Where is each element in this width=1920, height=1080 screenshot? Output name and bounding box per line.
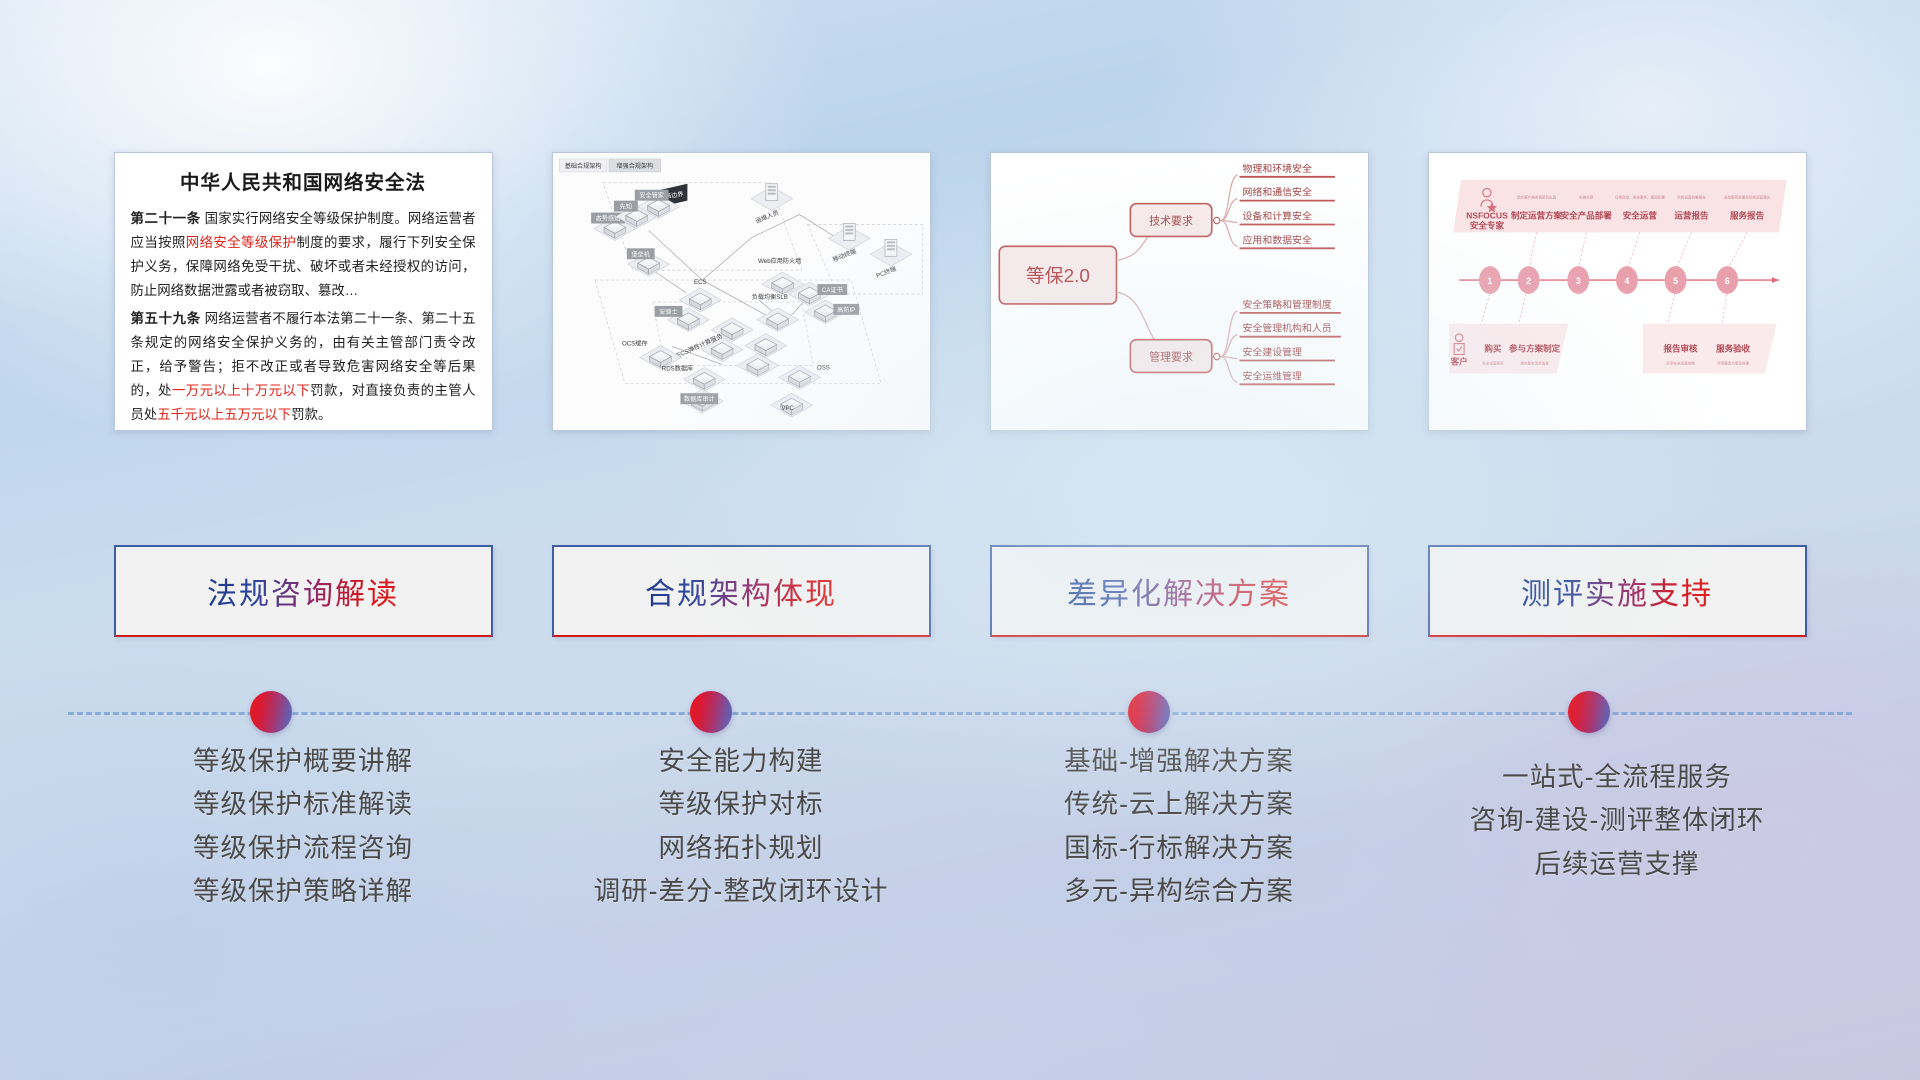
arch-node-waf: Web应用防火墙 bbox=[758, 257, 801, 265]
law-article-59: 第五十九条 网络运营者不履行本法第二十一条、第二十五条规定的网络安全保护义务的，… bbox=[131, 307, 476, 426]
arch-node-xianzhi: 先知 bbox=[619, 203, 631, 211]
list-item: 调研-差分-整改闭环设计 bbox=[594, 870, 889, 913]
timeline-customer-label: 客户 bbox=[1449, 356, 1467, 366]
timeline-step-4-label: 安全运营 bbox=[1622, 211, 1657, 221]
list-item: 基础-增强解决方案 bbox=[1064, 740, 1294, 783]
mindmap-leaf-tech-1: 网络和通信安全 bbox=[1242, 186, 1311, 199]
list-item: 咨询-建设-测评整体闭环 bbox=[1470, 799, 1765, 842]
list-item: 安全能力构建 bbox=[659, 740, 824, 783]
mindmap-branch-tech: 技术要求 bbox=[1149, 214, 1193, 227]
timeline-bottom-1-label: 参与方案制定 bbox=[1509, 344, 1561, 354]
service-column-1: 等级保护概要讲解 等级保护标准解读 等级保护流程咨询 等级保护策略详解 bbox=[114, 740, 493, 914]
arch-node-slb: 负载均衡SLB bbox=[751, 293, 787, 301]
timeline-step-3-label: 安全产品部署 bbox=[1560, 211, 1612, 221]
service-column-4: 一站式-全流程服务 咨询-建设-测评整体闭环 后续运营支撑 bbox=[1428, 740, 1807, 914]
timeline-step-5-sub: 阶段运营效果报告 bbox=[1677, 195, 1706, 200]
timeline-step-6-sub: 总结服务效果及后续运营建议 bbox=[1723, 195, 1770, 200]
service-column-3: 基础-增强解决方案 传统-云上解决方案 国标-行标解决方案 多元-异构综合方案 bbox=[990, 740, 1369, 914]
list-item: 等级保护流程咨询 bbox=[193, 827, 413, 870]
list-item: 一站式-全流程服务 bbox=[1502, 756, 1732, 799]
timeline-node-5: 5 bbox=[1673, 276, 1678, 286]
arch-node-situation: 态势感知 bbox=[595, 215, 620, 223]
list-item: 等级保护策略详解 bbox=[193, 870, 413, 913]
mindmap-leaf-tech-2: 设备和计算安全 bbox=[1242, 210, 1311, 223]
arch-tab-enhanced[interactable]: 增强合规架构 bbox=[616, 162, 653, 170]
timeline-node-6: 6 bbox=[1724, 276, 1729, 286]
section-title-1: 法规咨询解读 bbox=[207, 569, 399, 613]
section-title-2: 合规架构体现 bbox=[645, 569, 837, 613]
list-item: 后续运营支撑 bbox=[1535, 843, 1700, 886]
arch-tab-basic[interactable]: 基础合规架构 bbox=[564, 162, 601, 170]
list-item: 国标-行标解决方案 bbox=[1064, 827, 1294, 870]
mindmap-leaf-mgmt-0: 安全策略和管理制度 bbox=[1242, 298, 1331, 311]
timeline-infographic: .tbig{font-family:"Liberation Sans",sans… bbox=[1429, 153, 1806, 430]
arch-node-ocs: OCS缓存 bbox=[621, 340, 647, 348]
section-title-box-2[interactable]: 合规架构体现 bbox=[552, 545, 931, 637]
service-list-row: 等级保护概要讲解 等级保护标准解读 等级保护流程咨询 等级保护策略详解 安全能力… bbox=[0, 740, 1920, 914]
card-dengbao-mindmap: .mtxt{font-family:"Liberation Serif","De… bbox=[990, 152, 1369, 431]
article-21-highlight: 网络安全等级保护 bbox=[186, 235, 297, 250]
timeline-marker-1[interactable] bbox=[250, 691, 292, 733]
card-assessment-timeline: .tbig{font-family:"Liberation Sans",sans… bbox=[1428, 152, 1807, 431]
timeline-step-2-label: 制定运营方案 bbox=[1511, 211, 1563, 221]
list-item: 等级保护标准解读 bbox=[193, 783, 413, 826]
timeline-expert-sub: 安全专家 bbox=[1469, 220, 1504, 230]
mindmap-leaf-mgmt-1: 安全管理机构和人员 bbox=[1242, 322, 1331, 335]
timeline-node-2: 2 bbox=[1526, 276, 1531, 286]
timeline-expert-title: NSFOCUS bbox=[1466, 211, 1508, 221]
mindmap-leaf-mgmt-3: 安全运维管理 bbox=[1242, 369, 1302, 382]
slide-canvas: 中华人民共和国网络安全法 第二十一条 国家实行网络安全等级保护制度。网络运营者应… bbox=[0, 0, 1920, 1080]
timeline-bottom-1-sub: 提供基本现状信息 bbox=[1520, 360, 1549, 365]
timeline-marker-4[interactable] bbox=[1568, 691, 1610, 733]
timeline-node-4: 4 bbox=[1624, 276, 1629, 286]
timeline-step-3-sub: 实施方案 bbox=[1579, 195, 1594, 200]
mindmap-leaf-tech-3: 应用和数据安全 bbox=[1242, 233, 1311, 246]
timeline-step-5-label: 运营报告 bbox=[1674, 211, 1709, 221]
arch-node-vpc: VPC bbox=[781, 405, 794, 412]
illustration-card-row: 中华人民共和国网络安全法 第二十一条 国家实行网络安全等级保护制度。网络运营者应… bbox=[0, 152, 1920, 431]
mindmap-branch-mgmt: 管理要求 bbox=[1149, 350, 1193, 364]
timeline-step-4-sub: 日常巡检、安全事件、漏洞处置 bbox=[1614, 195, 1664, 200]
mindmap-root: 等保2.0 bbox=[1025, 265, 1089, 286]
arch-node-bastion: 堡垒机 bbox=[631, 250, 649, 258]
timeline-node-3: 3 bbox=[1575, 276, 1580, 286]
mindmap-diagram: .mtxt{font-family:"Liberation Serif","De… bbox=[991, 153, 1368, 430]
section-title-box-4[interactable]: 测评实施支持 bbox=[1428, 545, 1807, 637]
article-21-label: 第二十一条 bbox=[131, 211, 201, 226]
timeline-bottom-2-sub: 评审安全运营效果 bbox=[1666, 360, 1695, 365]
mindmap-leaf-tech-0: 物理和环境安全 bbox=[1242, 162, 1311, 175]
arch-node-rds: RDS数据库 bbox=[661, 364, 692, 372]
list-item: 多元-异构综合方案 bbox=[1064, 870, 1294, 913]
timeline-marker-2[interactable] bbox=[690, 691, 732, 733]
arch-node-anqishi: 安骑士 bbox=[659, 308, 677, 316]
article-59-highlight-1: 一万元以上十万元以下 bbox=[172, 383, 310, 398]
list-item: 传统-云上解决方案 bbox=[1064, 783, 1294, 826]
progress-timeline bbox=[0, 683, 1920, 743]
arch-node-antiddos: 高防IP bbox=[837, 306, 855, 314]
list-item: 等级保护对标 bbox=[659, 783, 824, 826]
card-compliance-architecture: .lbl{font-family:"Liberation Sans",sans-… bbox=[552, 152, 931, 431]
arch-node-ecs: ECS bbox=[693, 279, 706, 286]
arch-node-db-audit: 数据库审计 bbox=[683, 395, 714, 403]
arch-node-ca: CA证书 bbox=[821, 286, 842, 294]
section-title-4: 测评实施支持 bbox=[1521, 569, 1713, 613]
timeline-step-6-label: 服务报告 bbox=[1730, 211, 1765, 221]
section-title-row: 法规咨询解读 合规架构体现 差异化解决方案 测评实施支持 bbox=[0, 545, 1920, 637]
timeline-marker-3[interactable] bbox=[1128, 691, 1170, 733]
timeline-node-1: 1 bbox=[1487, 276, 1492, 286]
timeline-bottom-3-label: 服务验收 bbox=[1716, 344, 1751, 354]
section-title-box-3[interactable]: 差异化解决方案 bbox=[990, 545, 1369, 637]
article-59-text-c: 罚款。 bbox=[291, 407, 331, 422]
law-article-21: 第二十一条 国家实行网络安全等级保护制度。网络运营者应当按照网络安全等级保护制度… bbox=[131, 207, 476, 302]
list-item: 网络拓扑规划 bbox=[659, 827, 824, 870]
timeline-bottom-3-sub: 评审整改方案及效果 bbox=[1717, 360, 1749, 365]
card-cybersecurity-law: 中华人民共和国网络安全法 第二十一条 国家实行网络安全等级保护制度。网络运营者应… bbox=[114, 152, 493, 431]
timeline-bottom-2-label: 报告审核 bbox=[1663, 344, 1698, 354]
arch-node-oss: OSS bbox=[816, 364, 829, 371]
article-59-highlight-2: 五千元以上五万元以下 bbox=[157, 407, 291, 422]
law-title: 中华人民共和国网络安全法 bbox=[131, 166, 476, 195]
mindmap-leaf-mgmt-2: 安全建设管理 bbox=[1242, 346, 1302, 359]
timeline-bottom-0-sub: 安全运营服务 bbox=[1482, 360, 1504, 365]
list-item: 等级保护概要讲解 bbox=[193, 740, 413, 783]
timeline-step-2-sub: 结合客户需求调研后出具 bbox=[1516, 195, 1556, 200]
section-title-3: 差异化解决方案 bbox=[1067, 569, 1291, 613]
timeline-bottom-0-label: 购买 bbox=[1483, 344, 1502, 354]
service-column-2: 安全能力构建 等级保护对标 网络拓扑规划 调研-差分-整改闭环设计 bbox=[552, 740, 931, 914]
article-59-label: 第五十九条 bbox=[131, 311, 201, 326]
arch-node-guanjia: 安全管家 bbox=[639, 192, 664, 200]
section-title-box-1[interactable]: 法规咨询解读 bbox=[114, 545, 493, 637]
architecture-diagram: .lbl{font-family:"Liberation Sans",sans-… bbox=[553, 153, 930, 430]
